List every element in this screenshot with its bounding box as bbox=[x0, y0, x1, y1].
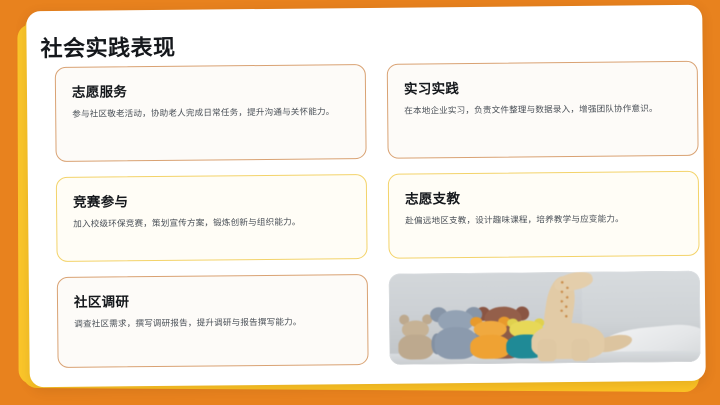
card-competition[interactable]: 竞赛参与 加入校级环保竞赛，策划宣传方案，锻炼创新与组织能力。 bbox=[56, 174, 368, 262]
card-teaching-volunteer[interactable]: 志愿支教 赴偏远地区支教，设计趣味课程，培养教学与应变能力。 bbox=[388, 171, 700, 259]
plush-bear-tan-icon bbox=[399, 321, 434, 360]
content-sheet: 社会实践表现 志愿服务 参与社区敬老活动，协助老人完成日常任务，提升沟通与关怀能… bbox=[26, 5, 706, 387]
card-body: 加入校级环保竞赛，策划宣传方案，锻炼创新与组织能力。 bbox=[73, 215, 350, 232]
plush-bear-orange-icon bbox=[470, 322, 511, 359]
page-title: 社会实践表现 bbox=[40, 30, 175, 63]
card-title: 志愿服务 bbox=[72, 78, 349, 101]
plush-toys-photo-card bbox=[389, 271, 701, 365]
plush-toys-photo bbox=[389, 271, 701, 365]
card-internship[interactable]: 实习实践 在本地企业实习，负责文件整理与数据录入，增强团队协作意识。 bbox=[387, 61, 699, 159]
card-title: 志愿支教 bbox=[405, 185, 682, 208]
card-title: 竞赛参与 bbox=[73, 188, 350, 211]
card-title: 社区调研 bbox=[74, 288, 351, 311]
card-body: 调查社区需求，撰写调研报告，提升调研与报告撰写能力。 bbox=[74, 315, 351, 332]
card-body: 在本地企业实习，负责文件整理与数据录入，增强团队协作意识。 bbox=[404, 102, 681, 119]
card-volunteer-service[interactable]: 志愿服务 参与社区敬老活动，协助老人完成日常任务，提升沟通与关怀能力。 bbox=[55, 64, 367, 162]
slide-root: 社会实践表现 志愿服务 参与社区敬老活动，协助老人完成日常任务，提升沟通与关怀能… bbox=[0, 0, 720, 405]
plush-brontosaurus-beige-icon bbox=[526, 275, 620, 360]
card-body: 参与社区敬老活动，协助老人完成日常任务，提升沟通与关怀能力。 bbox=[72, 105, 349, 122]
card-body: 赴偏远地区支教，设计趣味课程，培养教学与应变能力。 bbox=[405, 212, 682, 229]
card-title: 实习实践 bbox=[404, 75, 681, 98]
card-community-research[interactable]: 社区调研 调查社区需求，撰写调研报告，提升调研与报告撰写能力。 bbox=[57, 274, 369, 368]
cards-grid: 志愿服务 参与社区敬老活动，协助老人完成日常任务，提升沟通与关怀能力。 竞赛参与… bbox=[39, 59, 694, 373]
